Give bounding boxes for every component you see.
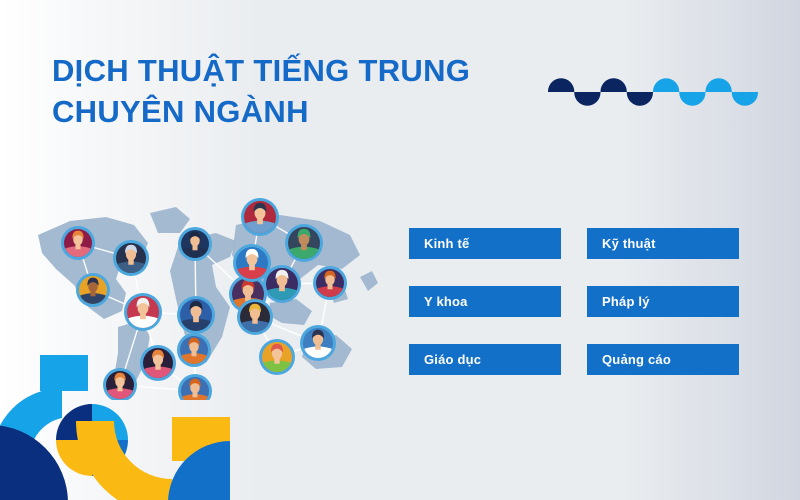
- page-title-line-1: DỊCH THUẬT TIẾNG TRUNG: [52, 50, 522, 91]
- map-avatar-16-woman-green: [259, 339, 295, 375]
- map-avatar-5-woman-pink: [140, 345, 176, 381]
- map-avatar-17-doctor-stethoscope: [300, 325, 336, 361]
- map-avatar-8-police: [178, 227, 212, 261]
- deco-yellow-arc: [76, 421, 172, 500]
- wave-logo-icon: [548, 70, 758, 114]
- category-button-phap-ly[interactable]: Pháp lý: [587, 286, 739, 317]
- category-button-grid: Kinh tế Kỹ thuật Y khoa Pháp lý Giáo dục…: [409, 228, 739, 375]
- page-title: DỊCH THUẬT TIẾNG TRUNG CHUYÊN NGÀNH: [52, 50, 522, 132]
- wave-segment-5: [653, 78, 679, 92]
- wave-logo: [548, 70, 758, 114]
- map-avatar-11-woman-blue-shirt: [241, 198, 279, 236]
- map-avatar-18-worker-orange: [178, 374, 212, 400]
- map-landmass-6: [268, 299, 312, 325]
- wave-segment-2: [574, 92, 600, 106]
- wave-segment-8: [732, 92, 758, 106]
- wave-segment-1: [548, 78, 574, 92]
- category-button-giao-duc[interactable]: Giáo dục: [409, 344, 561, 375]
- banner-root: DỊCH THUẬT TIẾNG TRUNG CHUYÊN NGÀNH Kinh…: [0, 0, 800, 500]
- map-avatar-1-woman-red: [61, 226, 95, 260]
- category-button-ky-thuat[interactable]: Kỹ thuật: [587, 228, 739, 259]
- deco-circle-quadrant-sw: [56, 440, 92, 476]
- map-avatar-3-officer-cap: [76, 273, 110, 307]
- page-title-line-2: CHUYÊN NGÀNH: [52, 91, 522, 132]
- deco-circle-quadrant-nw: [56, 404, 92, 440]
- map-avatar-6-pilot: [177, 296, 215, 334]
- category-button-y-khoa[interactable]: Y khoa: [409, 286, 561, 317]
- deco-blue-quarter: [168, 441, 230, 500]
- map-avatar-13-surgeon-mask: [285, 224, 323, 262]
- deco-circle-quadrant-ne: [92, 404, 128, 440]
- map-landmass-8: [360, 271, 378, 291]
- map-avatar-12-nurse: [263, 265, 301, 303]
- wave-segment-4: [627, 92, 653, 106]
- map-avatar-7-worker-helmet: [177, 333, 211, 367]
- map-avatar-14-man-red: [313, 266, 347, 300]
- wave-segment-7: [706, 78, 732, 92]
- map-avatar-15-worker-yellow-helmet: [237, 299, 273, 335]
- wave-segment-3: [601, 78, 627, 92]
- deco-navy-quarter: [0, 425, 68, 500]
- wave-segment-6: [679, 92, 705, 106]
- category-button-quang-cao[interactable]: Quảng cáo: [587, 344, 739, 375]
- map-avatar-2-chef-white-hat: [113, 240, 149, 276]
- deco-circle-quadrant-se: [92, 440, 128, 476]
- deco-yellow-block: [172, 417, 230, 461]
- world-map-illustration: [30, 195, 390, 400]
- map-avatar-4-chef-toque: [124, 293, 162, 331]
- map-landmass-2: [150, 207, 190, 233]
- category-button-kinh-te[interactable]: Kinh tế: [409, 228, 561, 259]
